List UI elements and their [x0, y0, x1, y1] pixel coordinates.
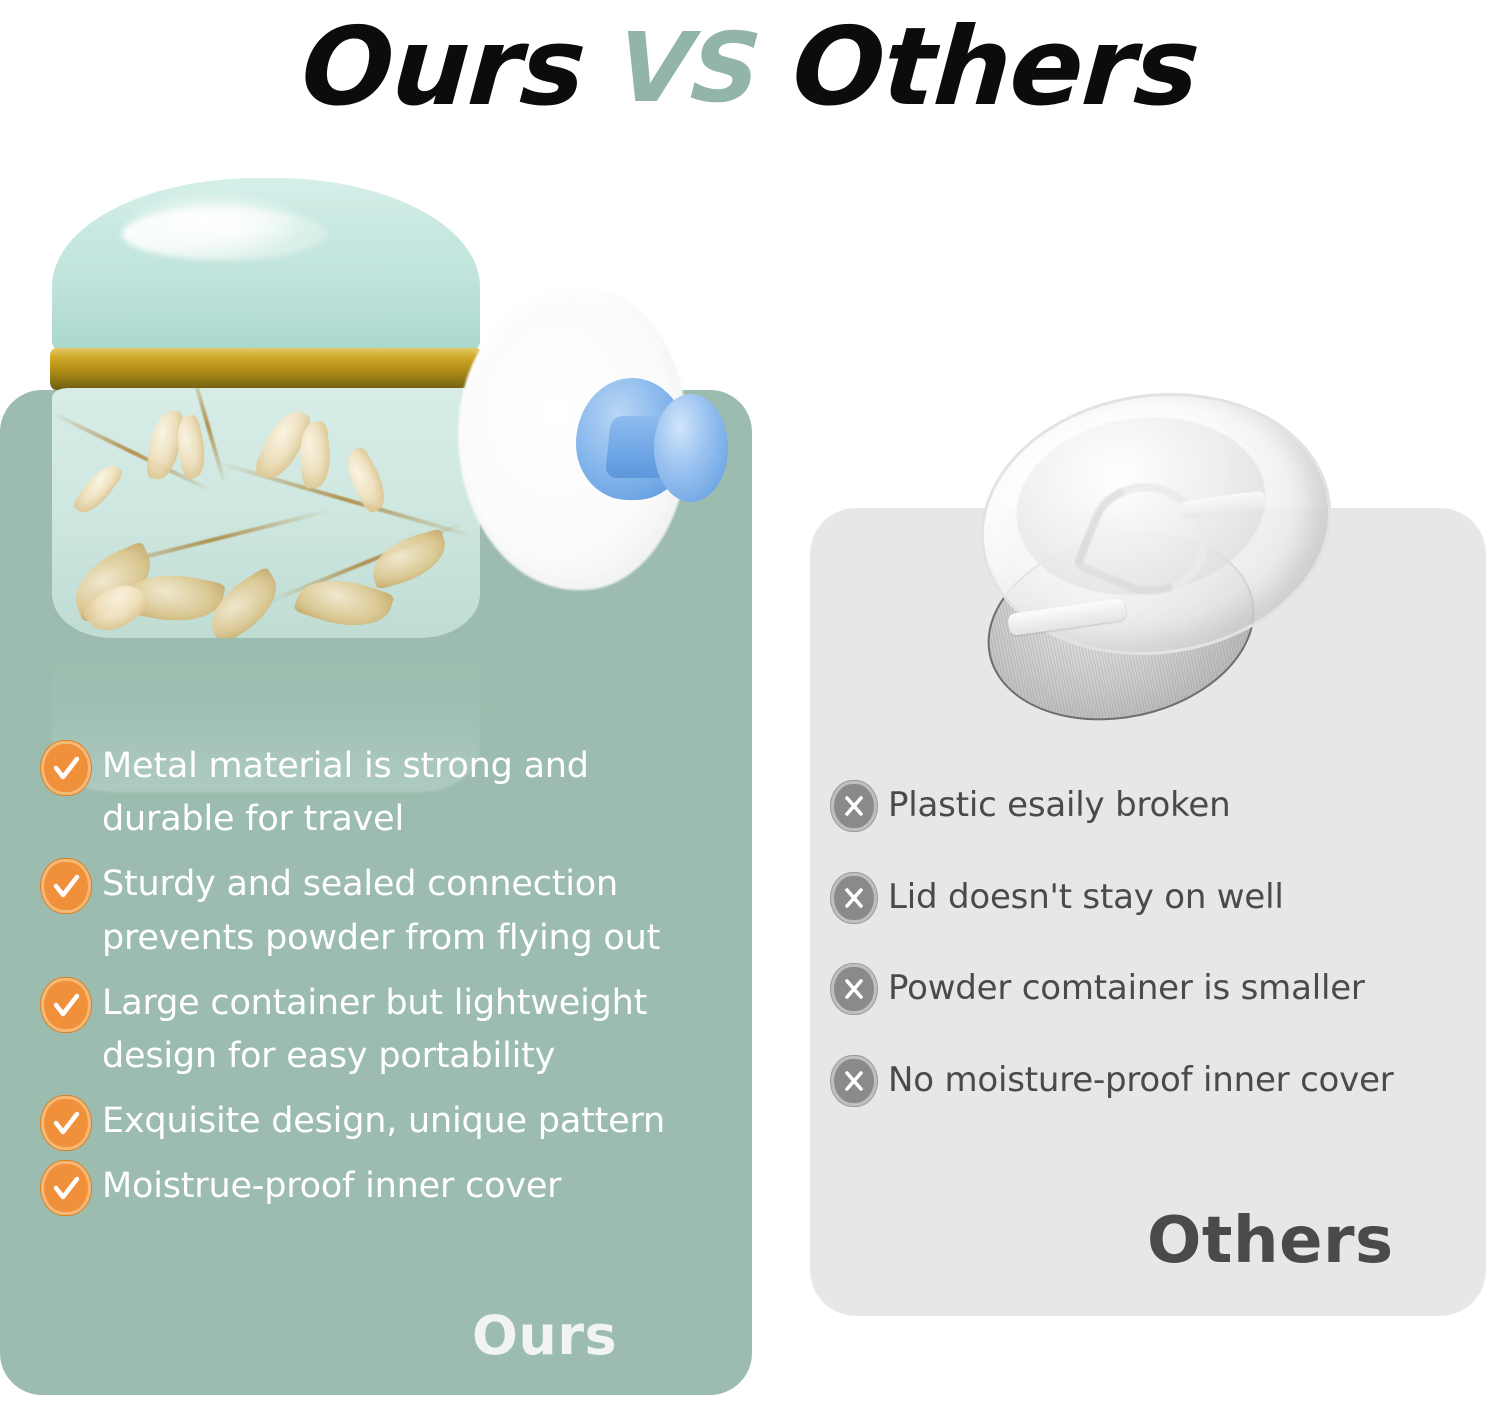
title-word-others: Others [790, 14, 1203, 122]
list-item-label: Powder comtainer is smaller [888, 965, 1365, 1013]
list-item-label: No moisture-proof inner cover [888, 1057, 1394, 1105]
check-icon [44, 1099, 88, 1147]
title-word-vs: VS [614, 20, 762, 116]
jar-gold-band [50, 348, 482, 390]
puff-handle-knob [654, 394, 728, 502]
list-item: Plastic esaily broken [834, 782, 1464, 830]
list-item: Exquisite design, unique pattern [44, 1095, 724, 1148]
list-item-label: Lid doesn't stay on well [888, 874, 1284, 922]
cross-icon [834, 876, 874, 920]
list-item-label: Metal material is strong and durable for… [102, 740, 724, 846]
list-item-label: Moistrue-proof inner cover [102, 1160, 561, 1213]
others-product-image [960, 388, 1360, 738]
jar-lid [52, 178, 480, 353]
list-item: Metal material is strong and durable for… [44, 740, 724, 846]
list-item: Sturdy and sealed connection prevents po… [44, 858, 724, 964]
list-item: No moisture-proof inner cover [834, 1057, 1464, 1105]
list-item-label: Sturdy and sealed connection prevents po… [102, 858, 724, 964]
jar-lid-highlight [122, 208, 327, 260]
list-item-label: Large container but lightweight design f… [102, 977, 724, 1083]
list-item: Moistrue-proof inner cover [44, 1160, 724, 1213]
ours-footer-label: Ours [472, 1304, 617, 1367]
check-icon [44, 981, 88, 1029]
list-item-label: Plastic esaily broken [888, 782, 1230, 830]
check-icon [44, 744, 88, 792]
list-item: Powder comtainer is smaller [834, 965, 1464, 1013]
others-feature-list: Plastic esaily broken Lid doesn't stay o… [834, 782, 1464, 1148]
cross-icon [834, 784, 874, 828]
list-item-label: Exquisite design, unique pattern [102, 1095, 665, 1148]
cross-icon [834, 1059, 874, 1103]
check-icon [44, 1164, 88, 1212]
powder-jar [38, 170, 493, 640]
check-icon [44, 862, 88, 910]
title-word-ours: Ours [298, 14, 588, 122]
others-footer-label: Others [1147, 1204, 1394, 1278]
list-item: Large container but lightweight design f… [44, 977, 724, 1083]
powder-puff [458, 290, 728, 590]
ours-product-image [18, 170, 738, 690]
jar-body [52, 388, 480, 638]
cross-icon [834, 967, 874, 1011]
ours-feature-list: Metal material is strong and durable for… [44, 740, 724, 1226]
list-item: Lid doesn't stay on well [834, 874, 1464, 922]
page-title: Ours VS Others [0, 8, 1500, 128]
